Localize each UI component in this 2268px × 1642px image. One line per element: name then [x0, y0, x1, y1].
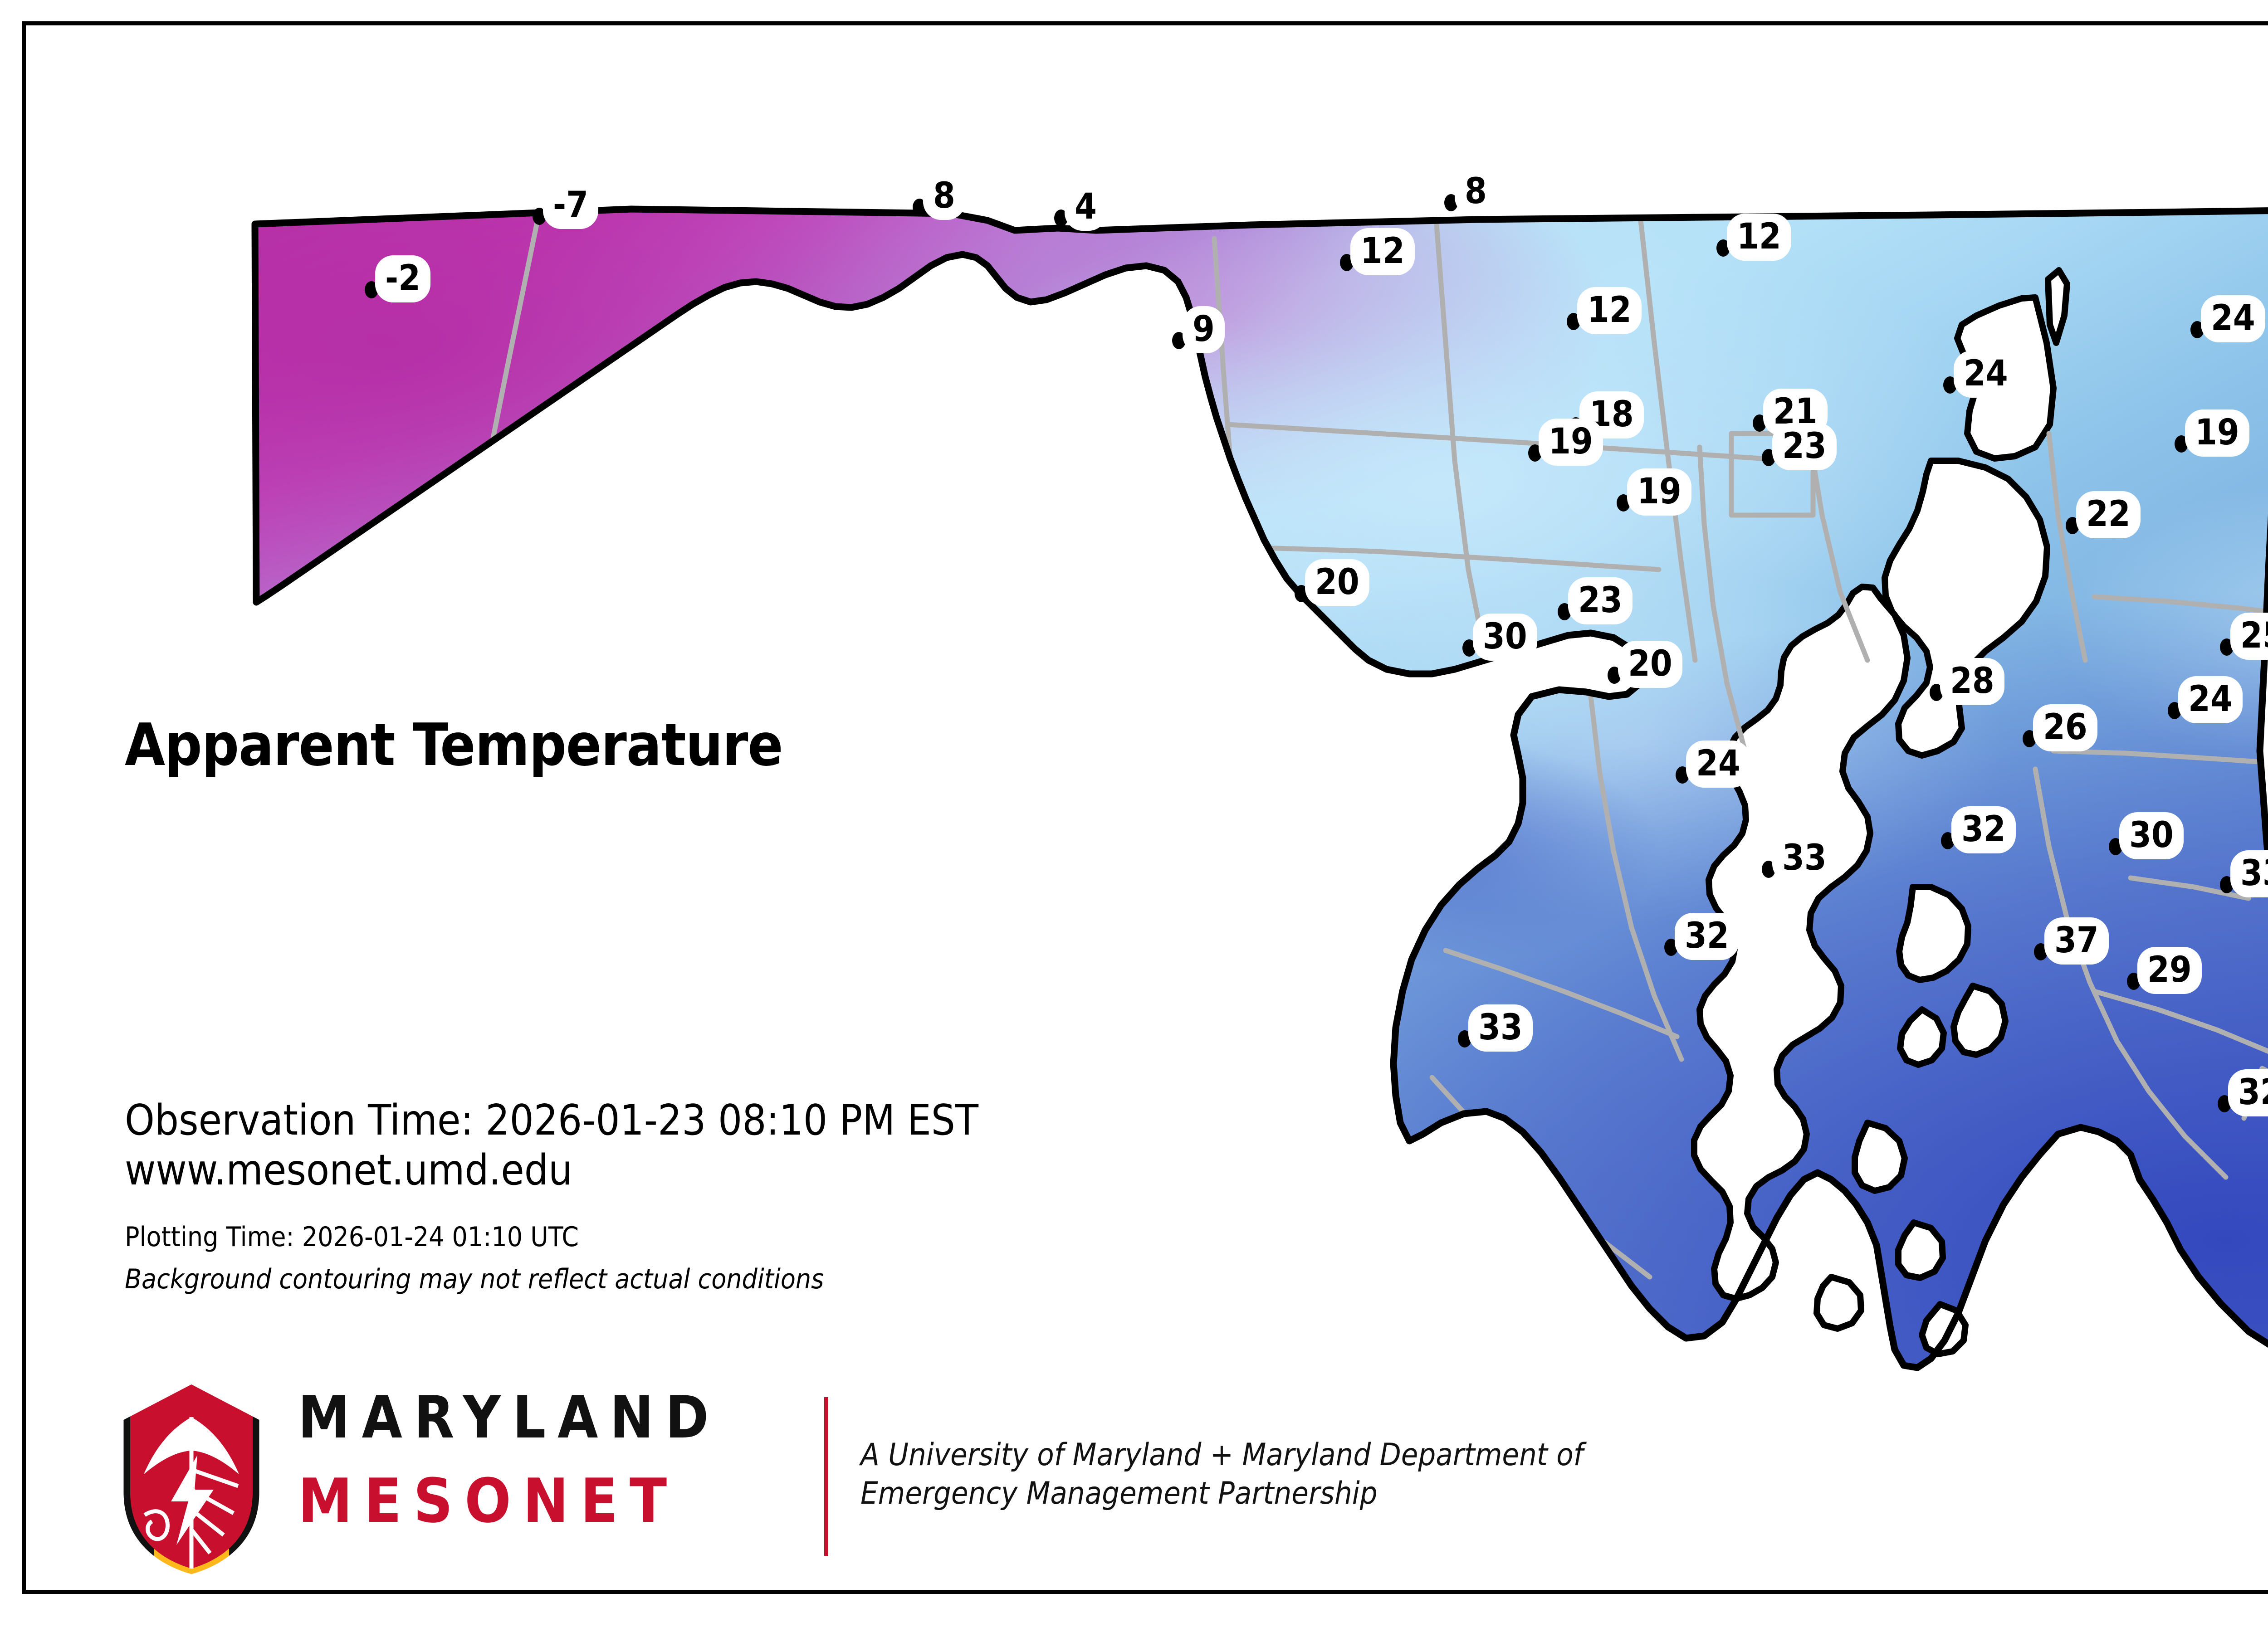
station-dot-icon — [1054, 210, 1068, 227]
station-value-label: 9 — [1187, 311, 1220, 349]
station-dot-icon — [1941, 832, 1955, 849]
station-value-label: 33 — [1473, 1009, 1528, 1047]
chesapeake-bay-water — [1694, 270, 2067, 1354]
station-dot-icon — [2175, 435, 2188, 453]
station-value-label: 12 — [1355, 233, 1410, 271]
station-value-label: 32 — [1956, 811, 2011, 849]
station-value-label: 26 — [2038, 709, 2093, 747]
station-value-label: 4 — [1069, 188, 1102, 226]
station-value-label: 24 — [1691, 745, 1746, 783]
station-value-label: 24 — [2205, 300, 2261, 338]
station-value-label: 25 — [2235, 617, 2268, 655]
station-value-label: 23 — [1573, 582, 1628, 620]
station-dot-icon — [1567, 313, 1580, 330]
wordmark-mesonet: MESONET — [298, 1471, 806, 1531]
station-value-label: 20 — [1623, 645, 1678, 683]
station-value-label: 33 — [1777, 839, 1832, 877]
station-value-label: 29 — [2142, 951, 2197, 989]
page-title: Apparent Temperature — [125, 711, 783, 779]
partnership-line-1: A University of Maryland + Maryland Depa… — [860, 1436, 1583, 1474]
station-value-label: 20 — [1310, 564, 1365, 602]
station-dot-icon — [1528, 444, 1542, 462]
station-dot-icon — [1444, 194, 1458, 211]
station-dot-icon — [1340, 254, 1354, 271]
logo-divider — [824, 1397, 828, 1556]
station-value-label: 19 — [1632, 473, 1687, 511]
station-value-label: 37 — [2049, 922, 2104, 960]
wordmark: MARYLAND MESONET — [298, 1389, 806, 1566]
station-dot-icon — [1608, 667, 1621, 684]
maryland-mesonet-logo: MARYLAND MESONET A University of Marylan… — [117, 1379, 987, 1579]
station-dot-icon — [1462, 639, 1476, 657]
station-dot-icon — [2034, 943, 2048, 960]
station-dot-icon — [1295, 585, 1308, 602]
station-dot-icon — [1716, 239, 1730, 257]
shield-icon — [117, 1379, 266, 1579]
station-value-label: 12 — [1731, 218, 1787, 256]
station-dot-icon — [2220, 638, 2234, 656]
website-url: www.mesonet.umd.edu — [125, 1145, 978, 1195]
station-dot-icon — [1930, 684, 1943, 701]
station-value-label: -2 — [380, 260, 426, 298]
station-dot-icon — [533, 208, 546, 225]
station-dot-icon — [1664, 939, 1678, 956]
station-dot-icon — [2109, 838, 2122, 855]
station-value-label: 8 — [1459, 173, 1492, 211]
station-value-label: 22 — [2081, 496, 2136, 534]
station-dot-icon — [1172, 332, 1186, 349]
station-dot-icon — [913, 199, 926, 216]
station-dot-icon — [2066, 517, 2079, 534]
station-dot-icon — [2168, 702, 2181, 719]
station-value-label: 30 — [1477, 618, 1533, 656]
station-value-label: 28 — [1945, 663, 2000, 701]
station-value-label: -7 — [547, 186, 594, 224]
station-dot-icon — [1558, 603, 1571, 620]
contour-disclaimer: Background contouring may not reflect ac… — [125, 1263, 824, 1295]
station-value-label: 32 — [2233, 1074, 2268, 1112]
figure-frame: -7-2848121291218192123242419192220233020… — [22, 21, 2268, 1594]
station-value-label: 24 — [1958, 355, 2014, 393]
partnership-line-2: Emergency Management Partnership — [860, 1474, 1583, 1513]
station-value-label: 24 — [2183, 681, 2238, 719]
station-dot-icon — [2127, 973, 2141, 990]
station-dot-icon — [2220, 876, 2234, 893]
plotting-time: Plotting Time: 2026-01-24 01:10 UTC — [125, 1221, 579, 1253]
observation-time: Observation Time: 2026-01-23 08:10 PM ES… — [125, 1096, 978, 1145]
station-dot-icon — [365, 281, 378, 298]
station-dot-icon — [1617, 494, 1630, 512]
wordmark-maryland: MARYLAND — [298, 1389, 806, 1447]
station-dot-icon — [1762, 449, 1775, 466]
station-value-label: 19 — [2190, 414, 2245, 452]
station-value-label: 32 — [1679, 917, 1735, 955]
station-value-label: 19 — [1543, 423, 1598, 461]
station-value-label: 8 — [928, 177, 961, 215]
station-value-label: 23 — [1777, 428, 1832, 466]
weather-map-figure: -7-2848121291218192123242419192220233020… — [0, 0, 2268, 1617]
station-value-label: 21 — [1768, 393, 1823, 431]
station-dot-icon — [2190, 321, 2204, 338]
station-value-label: 33 — [2235, 855, 2268, 893]
station-dot-icon — [2218, 1095, 2231, 1112]
station-value-label: 12 — [1582, 292, 1637, 330]
station-dot-icon — [1762, 861, 1775, 878]
station-value-label: 30 — [2124, 817, 2179, 855]
station-dot-icon — [2023, 730, 2036, 747]
station-dot-icon — [1943, 376, 1957, 394]
station-dot-icon — [1676, 766, 1689, 784]
station-dot-icon — [1458, 1030, 1471, 1048]
partnership-text: A University of Maryland + Maryland Depa… — [860, 1436, 1583, 1513]
observation-block: Observation Time: 2026-01-23 08:10 PM ES… — [125, 1096, 978, 1195]
station-dot-icon — [1753, 414, 1766, 432]
